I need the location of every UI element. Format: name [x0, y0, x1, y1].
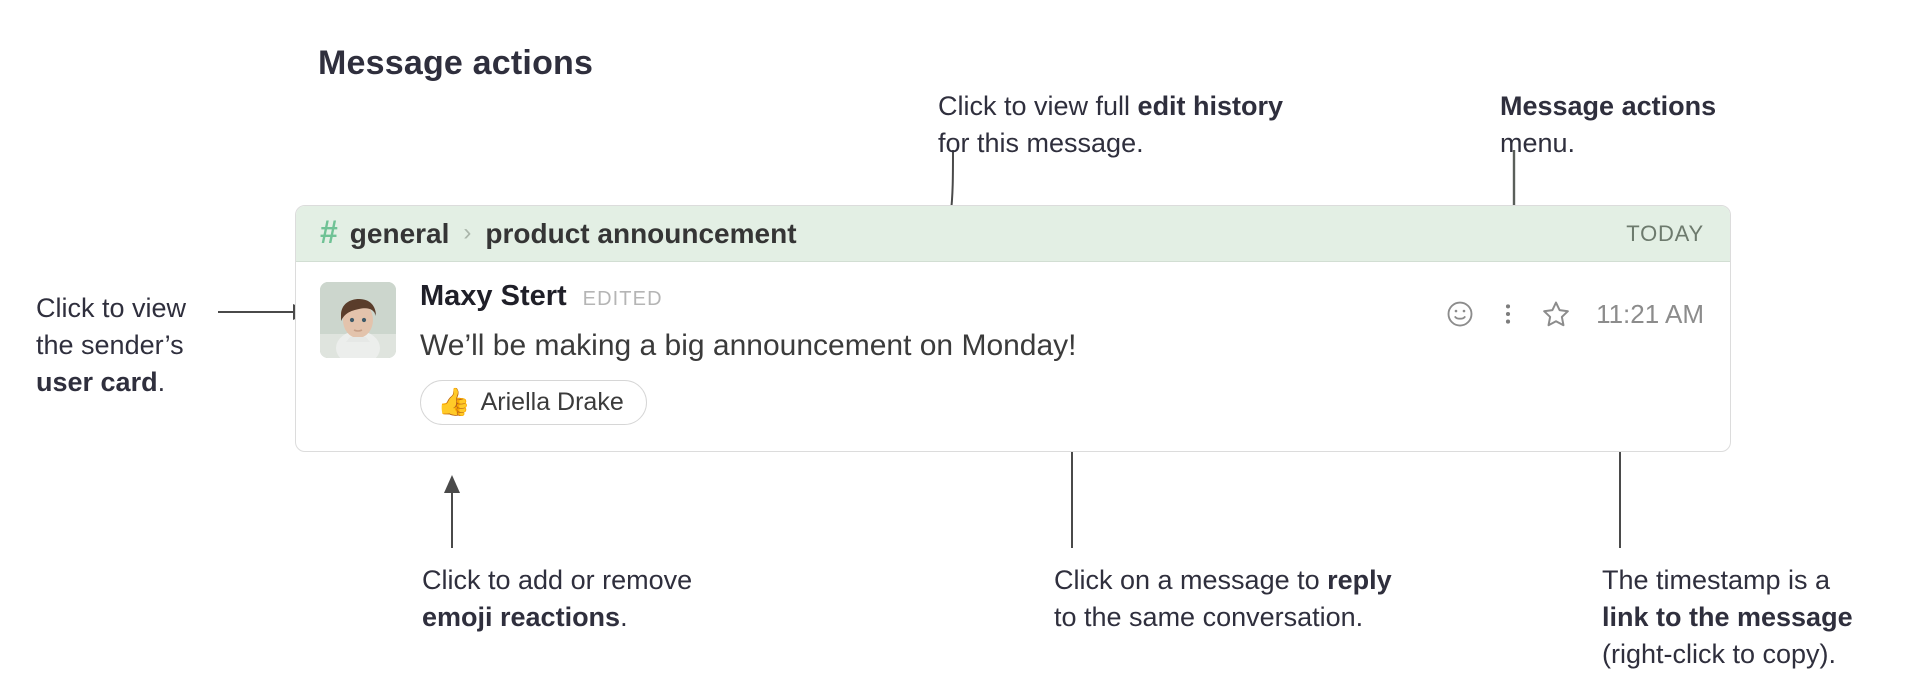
page-title: Message actions — [318, 44, 593, 83]
annotation-reactions: Click to add or remove emoji reactions. — [422, 562, 692, 636]
emoji-reaction-icon[interactable] — [1436, 292, 1484, 336]
annotation-user-card-emphasis: user card — [36, 367, 158, 397]
annotation-edit-history: Click to view full edit history for this… — [938, 88, 1283, 162]
chevron-right-icon: › — [463, 219, 471, 247]
message-actions-menu-icon[interactable] — [1484, 292, 1532, 336]
breadcrumb-topic[interactable]: product announcement — [485, 218, 796, 250]
reaction-reactor-name: Ariella Drake — [481, 388, 624, 417]
message-row[interactable]: Maxy Stert EDITED We’ll be making a big … — [296, 262, 1730, 451]
annotation-timestamp: The timestamp is a link to the message (… — [1602, 562, 1853, 673]
annotation-reply-line2: to the same conversation. — [1054, 599, 1392, 636]
message-card: # general › product announcement TODAY M… — [295, 205, 1731, 452]
thumbs-up-emoji: 👍 — [437, 389, 471, 416]
reaction-pill[interactable]: 👍 Ariella Drake — [420, 380, 647, 425]
breadcrumb-channel[interactable]: general — [350, 218, 450, 250]
annotation-reactions-line1: Click to add or remove — [422, 562, 692, 599]
annotation-actions-menu-emphasis: Message actions — [1500, 91, 1716, 121]
annotation-actions-menu: Message actions menu. — [1500, 88, 1716, 162]
edited-badge[interactable]: EDITED — [583, 288, 663, 311]
reaction-row: 👍 Ariella Drake — [420, 380, 1364, 425]
message-text[interactable]: We’ll be making a big announcement on Mo… — [420, 326, 1364, 366]
annotation-user-card-line1: Click to view — [36, 290, 186, 327]
day-label: TODAY — [1626, 221, 1704, 247]
star-icon[interactable] — [1532, 292, 1580, 336]
annotation-actions-menu-line2: menu. — [1500, 125, 1716, 162]
annotation-reply-line1-pre: Click on a message to — [1054, 565, 1327, 595]
sender-row: Maxy Stert EDITED — [420, 280, 1364, 318]
message-action-cluster: 11:21 AM — [1436, 292, 1704, 336]
annotation-user-card: Click to view the sender’s user card. — [36, 290, 186, 401]
annotation-reactions-line2-post: . — [620, 602, 628, 632]
annotation-timestamp-emphasis: link to the message — [1602, 602, 1853, 632]
annotation-edit-history-emphasis: edit history — [1138, 91, 1284, 121]
channel-breadcrumb-bar: # general › product announcement TODAY — [296, 206, 1730, 262]
avatar[interactable] — [320, 282, 396, 358]
sender-name[interactable]: Maxy Stert — [420, 280, 567, 313]
annotation-user-card-line3-post: . — [158, 367, 166, 397]
annotation-edit-history-line1-pre: Click to view full — [938, 91, 1138, 121]
annotation-reply-emphasis: reply — [1327, 565, 1392, 595]
annotation-user-card-line2: the sender’s — [36, 327, 186, 364]
annotation-reactions-emphasis: emoji reactions — [422, 602, 620, 632]
annotation-edit-history-line2: for this message. — [938, 125, 1283, 162]
hash-icon: # — [320, 216, 338, 248]
annotation-timestamp-line1: The timestamp is a — [1602, 562, 1853, 599]
annotation-reply: Click on a message to reply to the same … — [1054, 562, 1392, 636]
message-timestamp-link[interactable]: 11:21 AM — [1596, 299, 1704, 330]
annotation-timestamp-line3: (right-click to copy). — [1602, 636, 1853, 673]
